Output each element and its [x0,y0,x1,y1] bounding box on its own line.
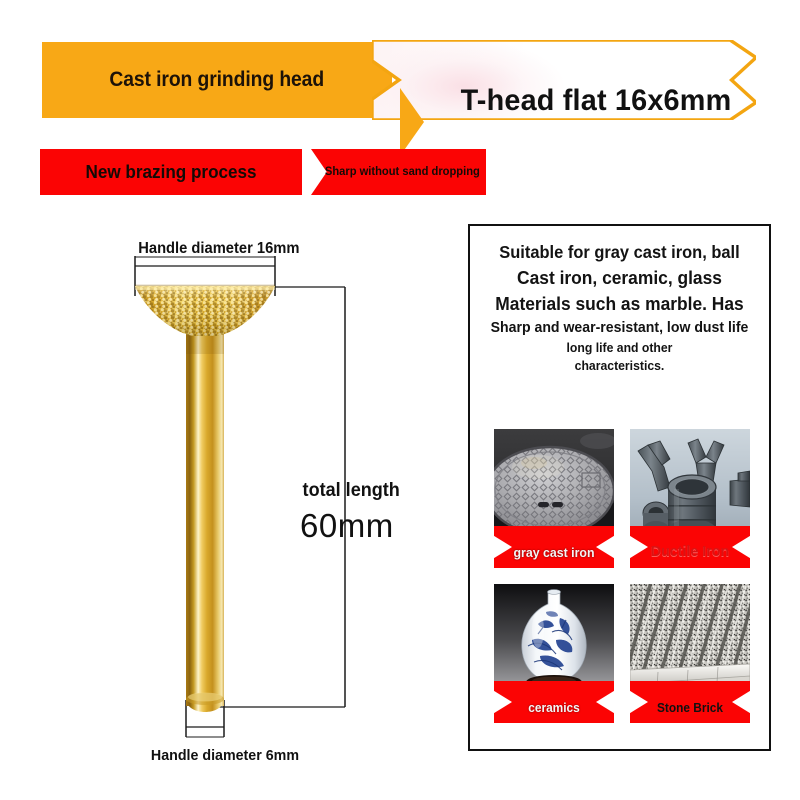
badge-new-brazing-process: New brazing process [40,149,302,195]
grooved-slab-field [630,584,750,676]
photo-ceramics: ceramics [494,584,614,723]
photo-stone-brick: Stone Brick [630,584,750,723]
info-line-3: Materials such as marble. Has [479,291,760,317]
photo-gray-cast-iron-caption: gray cast iron [497,545,611,560]
handle-diameter-top-label: Handle diameter 16mm [138,240,299,258]
photo-gray-cast-iron: gray cast iron [494,429,614,568]
category-label: Cast iron grinding head [110,68,325,92]
badge-sharp-without-sand-dropping-label: Sharp without sand dropping [314,149,484,195]
info-line-2: Cast iron, ceramic, glass [479,265,760,291]
header-banner: Cast iron grinding head T-head flat 16x6… [42,42,756,118]
photo-ductile-iron: Ductile Iron [630,429,750,568]
info-line-4: Sharp and wear-resistant, low dust life [479,317,760,338]
application-description: Suitable for gray cast iron, ball Cast i… [470,240,769,376]
badge-new-brazing-process-label: New brazing process [85,162,256,183]
chevron-right-icon [400,86,426,158]
total-length-label: total length [303,480,400,502]
product-infographic-page: Cast iron grinding head T-head flat 16x6… [0,0,800,800]
product-title: T-head flat 16x6mm [438,84,755,118]
info-line-5: long life and other [479,339,760,357]
info-line-6: characteristics. [479,357,760,375]
tool-shaft [186,328,224,712]
total-length-value: 60mm [300,507,394,545]
application-info-panel: Suitable for gray cast iron, ball Cast i… [468,224,771,751]
tool-diagram: Handle diameter 16mm Handle diameter 6mm… [0,210,460,770]
photo-ceramics-caption: ceramics [497,701,611,715]
tool-grinding-head [130,282,282,342]
application-photo-grid: gray cast iron [494,429,750,723]
info-line-1: Suitable for gray cast iron, ball [479,240,760,265]
photo-ductile-iron-caption: Ductile Iron [633,543,747,560]
handle-diameter-bottom-label: Handle diameter 6mm [151,747,299,764]
photo-stone-brick-caption: Stone Brick [633,701,747,715]
category-banner-block: Cast iron grinding head [42,42,392,118]
